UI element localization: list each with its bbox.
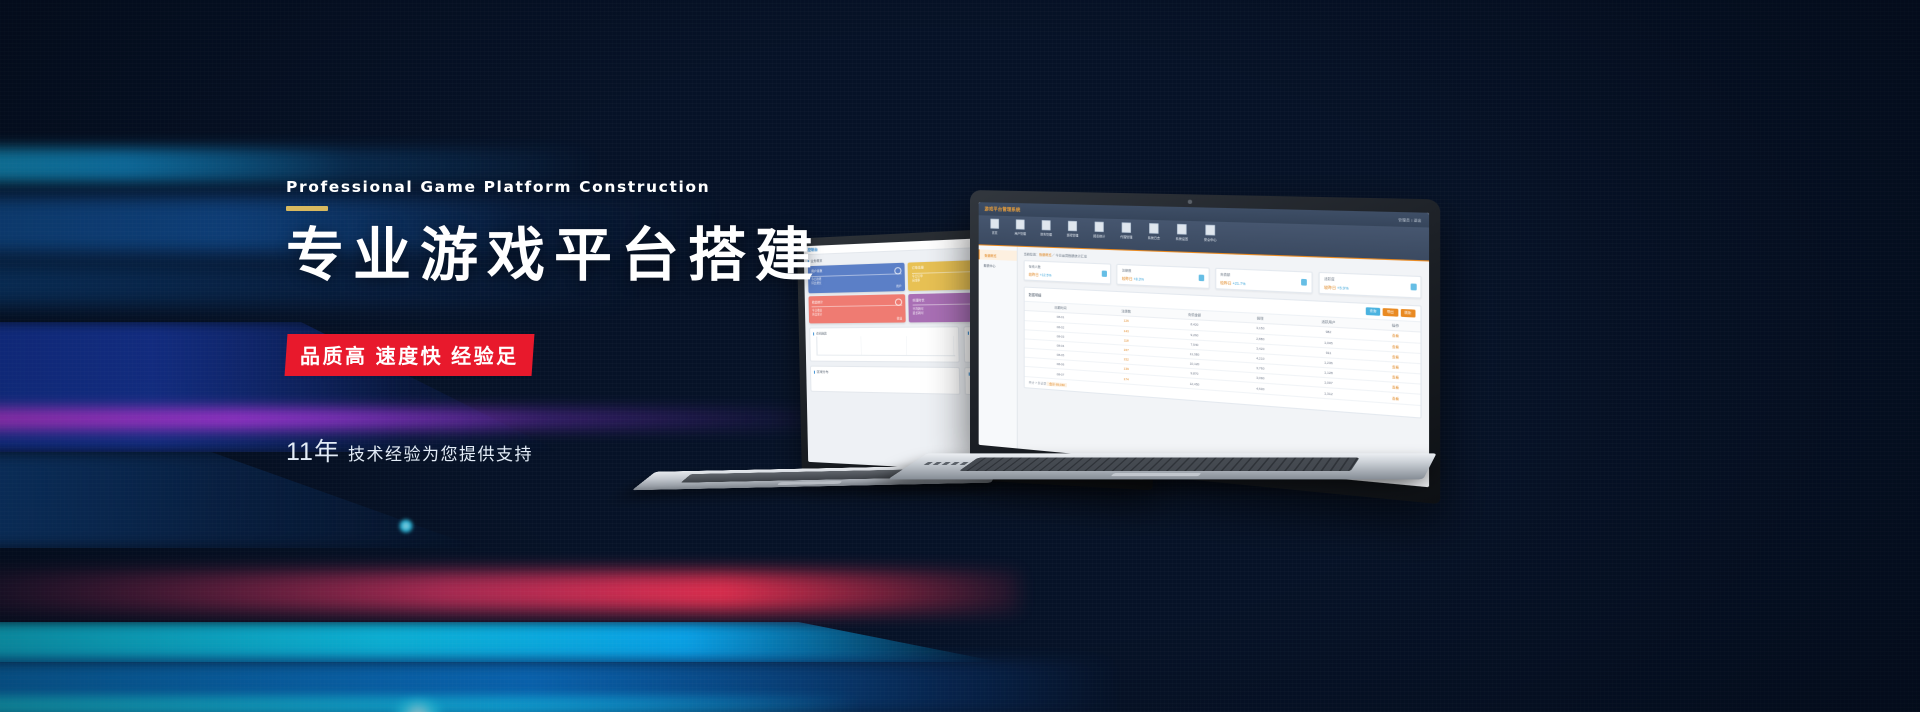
stat-card-value: 较昨日 +5.9% xyxy=(1324,284,1415,294)
gold-accent-rule xyxy=(286,206,328,211)
light-streak-cyan-top xyxy=(0,148,600,182)
data-table-panel: 数据明细 查询 导出 刷新 xyxy=(1024,287,1422,419)
ribbon-label: 首页 xyxy=(992,231,998,235)
table-action-buttons: 查询 导出 刷新 xyxy=(1366,307,1416,317)
ribbon-label: 系统日志 xyxy=(1148,236,1160,241)
ribbon-label: 安全中心 xyxy=(1204,238,1217,243)
gear-icon xyxy=(1177,224,1187,235)
front-dashboard-body: 数据概览 报表中心 当前位置：数据概览／ 今日运营数据统计汇总 在线人数 xyxy=(979,245,1429,487)
breadcrumb-link[interactable]: 数据概览 xyxy=(1039,253,1051,258)
ribbon-item-home[interactable]: 首页 xyxy=(986,218,1003,235)
front-main-content: 当前位置：数据概览／ 今日运营数据统计汇总 在线人数 较昨日 +12.5% xyxy=(1018,247,1429,488)
stat-card-label: 较昨日 xyxy=(1122,276,1133,281)
stat-card-recharge[interactable]: 充值额 较昨日 +21.7% xyxy=(1215,268,1313,294)
app-logo: 游戏平台管理系统 xyxy=(984,206,1020,213)
ribbon-item-reports[interactable]: 报表统计 xyxy=(1090,221,1108,239)
glow-dot-large xyxy=(386,700,450,712)
ribbon-label: 用户管理 xyxy=(1015,232,1026,236)
front-laptop-screen: 游戏平台管理系统 管理员 | 退出 首页 用户管理 xyxy=(979,202,1429,487)
stat-card-delta: +12.5% xyxy=(1040,273,1052,278)
breadcrumb-prefix: 当前位置： xyxy=(1024,252,1039,257)
hero-badge-label: 品质高 速度快 经验足 xyxy=(300,340,519,369)
ribbon-item-games[interactable]: 游戏管理 xyxy=(1064,221,1081,238)
hero-copy: Professional Game Platform Construction … xyxy=(286,178,926,468)
chart-icon xyxy=(1199,275,1204,282)
stat-card-delta: +21.7% xyxy=(1233,281,1246,286)
ribbon-label: 游戏管理 xyxy=(1067,233,1079,238)
light-streak-cyan-bright xyxy=(0,622,1000,662)
ribbon-label: 系统设置 xyxy=(1176,237,1189,242)
stat-card-online[interactable]: 在线人数 较昨日 +12.5% xyxy=(1024,260,1112,284)
front-laptop: 游戏平台管理系统 管理员 | 退出 首页 用户管理 xyxy=(930,190,1550,510)
hero-subline: 11年技术经验为您提供支持 xyxy=(286,432,926,468)
hero-years: 11年 xyxy=(286,438,340,466)
ribbon-item-agents[interactable]: 代理管理 xyxy=(1117,222,1135,240)
agent-icon xyxy=(1122,222,1131,233)
chart-icon xyxy=(1102,271,1107,277)
stat-card-delta: +5.9% xyxy=(1337,285,1348,290)
breadcrumb-suffix: ／ 今日运营数据统计汇总 xyxy=(1052,253,1088,258)
report-icon xyxy=(1095,222,1104,233)
chart-icon xyxy=(1301,279,1307,286)
stat-card-activity[interactable]: 活跃度 较昨日 +5.9% xyxy=(1318,272,1421,299)
ribbon-label: 代理管理 xyxy=(1120,235,1132,240)
hero-badge: 品质高 速度快 经验足 xyxy=(285,334,535,376)
ribbon-label: 财务管理 xyxy=(1040,233,1052,237)
webcam-icon xyxy=(1188,200,1192,204)
refresh-button[interactable]: 刷新 xyxy=(1400,309,1415,317)
user-icon xyxy=(1016,219,1025,229)
laptop-ports xyxy=(923,462,971,465)
table-footer-count: 共计 7 条记录 xyxy=(1029,380,1047,385)
chart-icon xyxy=(1410,283,1416,290)
front-laptop-keyboard xyxy=(959,458,1360,471)
ribbon-label: 报表统计 xyxy=(1093,234,1105,239)
stat-card-value: 较昨日 +21.7% xyxy=(1220,279,1306,288)
light-streak-red xyxy=(0,572,1020,612)
front-laptop-base xyxy=(888,453,1437,479)
stat-card-label: 较昨日 xyxy=(1029,272,1039,277)
stat-card-delta: +8.3% xyxy=(1134,277,1144,282)
list-icon xyxy=(1149,223,1159,234)
back-laptop-trackpad xyxy=(777,481,842,485)
ribbon-item-settings[interactable]: 系统设置 xyxy=(1173,224,1191,242)
shield-icon xyxy=(1205,225,1215,236)
stat-card-value: 较昨日 +8.3% xyxy=(1122,275,1204,284)
hero-banner: Professional Game Platform Construction … xyxy=(0,0,1920,712)
light-streak-blue-bottom xyxy=(0,660,1120,712)
user-menu[interactable]: 管理员 | 退出 xyxy=(1398,217,1421,222)
ribbon-item-users[interactable]: 用户管理 xyxy=(1012,219,1029,236)
front-sidebar: 数据概览 报表中心 xyxy=(979,245,1018,448)
light-streak-cyan-bottom xyxy=(0,696,860,712)
hero-subtext: 技术经验为您提供支持 xyxy=(348,445,533,464)
hero-eyebrow: Professional Game Platform Construction xyxy=(286,178,926,196)
hero-headline: 专业游戏平台搭建 xyxy=(286,225,926,288)
front-dashboard: 游戏平台管理系统 管理员 | 退出 首页 用户管理 xyxy=(979,202,1429,487)
query-button[interactable]: 查询 xyxy=(1366,307,1381,315)
glow-dot-small xyxy=(398,518,414,534)
coin-icon xyxy=(1042,220,1051,230)
table-panel-title: 数据明细 xyxy=(1029,292,1042,298)
front-laptop-trackpad xyxy=(1111,473,1202,476)
stat-card-label: 较昨日 xyxy=(1324,285,1336,290)
game-icon xyxy=(1068,221,1077,232)
file-icon xyxy=(990,219,999,229)
stat-card-value: 较昨日 +12.5% xyxy=(1029,271,1107,280)
ribbon-item-logs[interactable]: 系统日志 xyxy=(1145,223,1163,241)
sidebar-item-reports[interactable]: 报表中心 xyxy=(979,260,1017,272)
ribbon-item-finance[interactable]: 财务管理 xyxy=(1038,220,1055,237)
table-footer-total: 合计 69,040 xyxy=(1047,381,1067,387)
stat-card-label: 较昨日 xyxy=(1220,280,1231,285)
stat-card-registrations[interactable]: 注册数 较昨日 +8.3% xyxy=(1117,264,1210,289)
ribbon-item-security[interactable]: 安全中心 xyxy=(1201,224,1220,242)
export-button[interactable]: 导出 xyxy=(1383,308,1398,316)
